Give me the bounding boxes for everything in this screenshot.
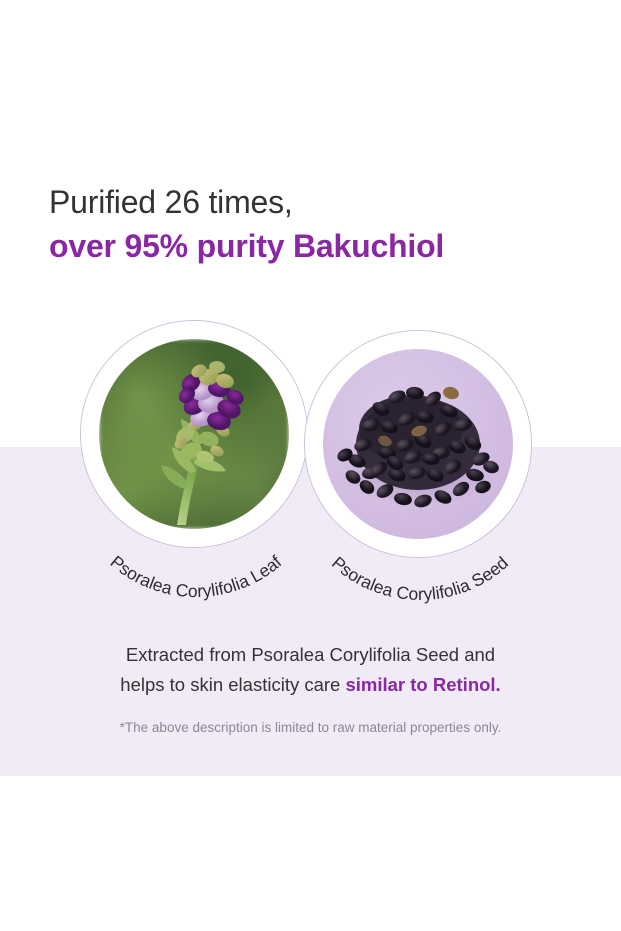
seed-pile-illustration: [323, 349, 513, 539]
headline-line-1: Purified 26 times,: [49, 182, 589, 223]
ingredient-circle-leaf: [80, 320, 308, 548]
seed-photo: [323, 349, 513, 539]
description-line-2: helps to skin elasticity care similar to…: [0, 670, 621, 700]
description-highlight: similar to Retinol.: [345, 674, 500, 695]
flower-spike-illustration: [99, 339, 289, 529]
ingredient-circle-seed: [304, 330, 532, 558]
headline-line-2: over 95% purity Bakuchiol: [49, 226, 589, 267]
ingredient-circles-group: [0, 300, 621, 630]
promo-graphic: Purified 26 times, over 95% purity Bakuc…: [0, 0, 621, 931]
disclaimer-note: *The above description is limited to raw…: [0, 720, 621, 735]
description-line-2-prefix: helps to skin elasticity care: [120, 674, 345, 695]
leaf-photo: [99, 339, 289, 529]
description-line-1: Extracted from Psoralea Corylifolia Seed…: [0, 640, 621, 670]
description-text: Extracted from Psoralea Corylifolia Seed…: [0, 640, 621, 700]
page-title: Purified 26 times, over 95% purity Bakuc…: [49, 182, 589, 267]
